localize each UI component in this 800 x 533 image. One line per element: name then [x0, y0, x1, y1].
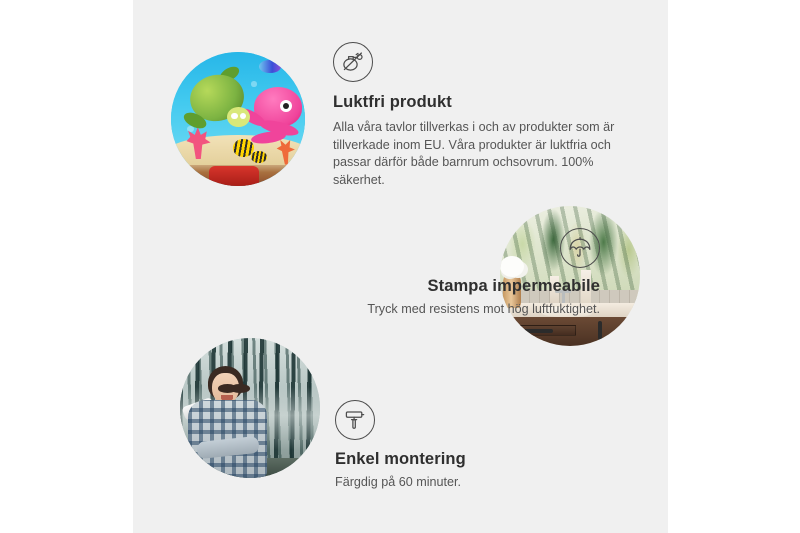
umbrella-icon: [560, 228, 600, 268]
feature-body: Färgdig på 60 minuter.: [335, 474, 585, 492]
shipwreck-shape: [209, 166, 260, 186]
feature-title: Stampa impermeabile: [338, 276, 600, 297]
feature-odourless: Luktfri produkt Alla våra tavlor tillver…: [333, 42, 633, 190]
octopus-eye-shape: [280, 100, 292, 112]
underwater-kids-scene-circle-image: [171, 52, 305, 186]
bubble-icon: [251, 81, 256, 86]
content-panel: Luktfri produkt Alla våra tavlor tillver…: [133, 0, 668, 533]
painter-forest-mural-circle-image: [180, 338, 320, 478]
screenshot-root: Luktfri produkt Alla våra tavlor tillver…: [0, 0, 800, 533]
cabinet-handle: [598, 321, 602, 341]
no-odour-spray-bottle-icon: [333, 42, 373, 82]
feature-easy-install: Enkel montering Färgdig på 60 minuter.: [335, 400, 585, 492]
feature-body: Alla våra tavlor tillverkas i och av pro…: [333, 119, 628, 191]
person-eye-shape: [230, 384, 250, 392]
feature-waterproof: Stampa impermeabile Tryck med resistens …: [338, 228, 600, 319]
feature-body: Tryck med resistens mot hög luftfuktighe…: [338, 301, 600, 319]
drawer-handle: [522, 329, 553, 333]
feature-title: Luktfri produkt: [333, 92, 633, 113]
turtle-head-shape: [227, 107, 250, 127]
feature-title: Enkel montering: [335, 449, 585, 470]
paint-roller-icon: [335, 400, 375, 440]
